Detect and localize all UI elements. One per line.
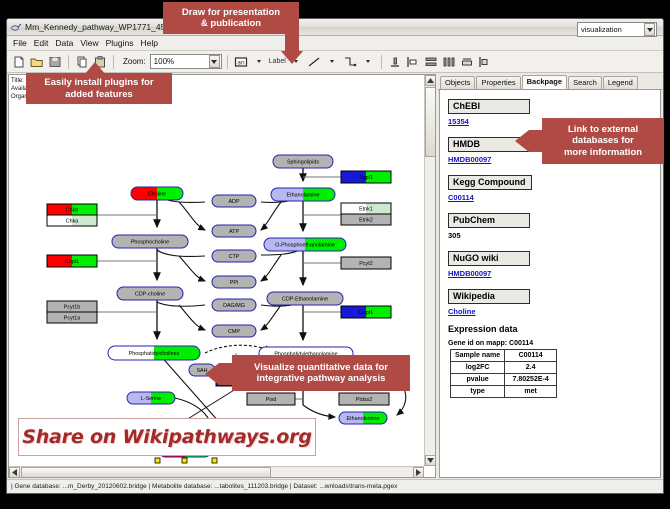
menu-edit[interactable]: Edit [32,38,54,48]
metabolite-node[interactable]: CTP [212,250,256,262]
expr-key-sample-name: Sample name [451,350,505,362]
gene-node[interactable]: Chka [47,215,97,226]
metabolite-node[interactable]: Choline [131,187,183,200]
side-panel-tabs[interactable]: Objects Properties Backpage Search Legen… [438,74,662,90]
metabolite-label: Ethanolamine [287,192,320,198]
gene-label: Ptdss2 [356,397,372,403]
datanode-dropdown-icon[interactable] [251,54,267,70]
screenshot-root: Mm_Kennedy_pathway_WP1771_45176.gpml Fil… [0,0,670,509]
tab-search[interactable]: Search [568,76,602,89]
distribute-icon[interactable] [441,54,457,70]
table-row: type met [451,386,557,398]
metabolite-label: ATP [229,229,239,235]
horizontal-scroll-thumb[interactable] [21,467,271,478]
datanode-icon[interactable]: an [233,54,249,70]
expr-val-pvalue: 7.80252E-4 [505,374,557,386]
metabolite-node[interactable]: PPi [212,276,256,288]
metabolite-node[interactable]: ADP [212,195,256,207]
gene-node[interactable]: Pisd [247,393,295,405]
scroll-left-icon[interactable] [9,467,20,478]
visualization-value: visualization [581,25,622,34]
metabolite-label: CMP [228,329,240,335]
tab-backpage[interactable]: Backpage [522,75,567,89]
selection-handle[interactable] [182,458,187,463]
expr-key-type: type [451,386,505,398]
tab-properties[interactable]: Properties [476,76,520,89]
gene-label: Chka [66,218,79,224]
callout-link-line1: Link to external [564,124,642,136]
backpage-header-pubchem: PubChem [448,213,530,228]
metabolite-label: CDP-Ethanolamine [282,296,328,302]
app-icon [11,22,22,33]
metabolite-node[interactable]: Sphingolipids [273,155,333,168]
kennedy-pathway-diagram[interactable]: CholinePhosphocholineCDP-cholinePhosphat… [9,75,425,467]
metabolite-node[interactable]: ATP [212,225,256,237]
toolbar-separator-4 [381,55,382,69]
callout-install-plugins: Easily install plugins for added feature… [26,73,172,104]
common-size-icon[interactable] [459,54,475,70]
expr-val-log2fc: 2.4 [505,362,557,374]
metabolite-label: DAG/MG [223,303,245,309]
gene-node[interactable]: Ptdss2 [339,393,389,405]
zoom-combo[interactable]: 100% [150,54,222,69]
new-file-icon[interactable] [11,54,27,70]
metabolite-node[interactable]: DAG/MG [212,299,256,311]
gene-node[interactable]: Cept1 [341,306,391,318]
metabolite-label: Phosphatidylcholines [129,351,180,357]
expression-data-table: Sample name C00114 log2FC 2.4 pvalue 7.8… [450,349,557,398]
metabolite-label: Phosphocholine [131,239,169,245]
expression-data-title: Expression data [448,324,654,334]
backpage-header-chebi: ChEBI [448,99,530,114]
callout-visualize-line1: Visualize quantitative data for [254,362,388,374]
open-folder-icon[interactable] [29,54,45,70]
zoom-value: 100% [154,57,174,66]
metabolite-node[interactable]: Phosphatidylcholines [108,346,200,360]
gene-label: Cept1 [359,310,373,316]
toolbar-separator-2 [113,55,114,69]
gene-node[interactable]: Pcyt1b [47,301,97,312]
title-bar: Mm_Kennedy_pathway_WP1771_45176.gpml [7,19,663,36]
callout-visualize-line2: integrative pathway analysis [254,373,388,385]
visualization-chevron-down-icon[interactable] [644,23,655,36]
align-left-icon[interactable] [405,54,421,70]
callout-visualize-data: Visualize quantitative data for integrat… [232,355,410,391]
gene-node[interactable]: Chkb [47,204,97,215]
callout-visualize-stem [219,363,233,385]
expr-val-sample-name: C00114 [505,350,557,362]
callout-draw-line1: Draw for presentation [182,7,280,19]
canvas-horizontal-scrollbar[interactable] [9,466,424,477]
selection-handle[interactable] [212,458,217,463]
gene-label: Pisd [266,397,277,403]
toolbar-separator-1 [68,55,69,69]
gene-label: Etnk1 [359,206,373,212]
callout-draw-line2: & publication [182,18,280,30]
menu-view[interactable]: View [78,38,103,48]
metabolite-label: Sphingolipids [287,159,319,165]
zoom-label: Zoom: [123,57,146,66]
backpage-link-wikipedia[interactable]: Choline [448,307,654,316]
metabolite-label: Choline [148,191,166,197]
gene-node[interactable]: Chpt1 [47,255,97,267]
callout-plugins-line2: added features [44,89,153,101]
expression-gene-id: Gene id on mapp: C00114 [448,340,654,347]
table-row: log2FC 2.4 [451,362,557,374]
bring-to-front-icon[interactable] [477,54,493,70]
metabolite-node[interactable]: CDP-Ethanolamine [267,292,343,305]
expr-key-pvalue: pvalue [451,374,505,386]
connector-dropdown-icon[interactable] [360,54,376,70]
gene-label: Chkb [66,207,79,213]
status-bar: | Gene database: ...m_Derby_20120602.bri… [7,479,663,493]
canvas-vertical-scrollbar[interactable] [424,75,435,466]
metabolite-node[interactable]: Phosphocholine [112,235,188,248]
selection-handle[interactable] [155,458,160,463]
metabolite-node[interactable]: CDP-choline [117,287,183,300]
stack-icon[interactable] [423,54,439,70]
gene-label: Etnk2 [359,217,373,223]
backpage-link-nugo-wiki[interactable]: HMDB00097 [448,269,654,278]
gene-label: Chpt1 [65,259,79,265]
gene-label: Sgpl1 [359,175,373,181]
gene-node[interactable]: Etnk1 [341,203,391,214]
callout-link-arrowhead-icon [515,130,529,152]
toolbar-separator-3 [227,55,228,69]
gene-label: Pcyt2 [359,261,372,267]
scroll-down-icon[interactable] [425,455,436,466]
menu-bar[interactable]: File Edit Data View Plugins Help [7,36,663,51]
metabolite-label: ADP [228,199,239,205]
scroll-right-icon[interactable] [413,467,424,478]
metabolite-node[interactable]: Ethanolamine [271,188,335,201]
metabolite-label: Ethanolamine [347,416,380,422]
table-row: pvalue 7.80252E-4 [451,374,557,386]
svg-text:an: an [237,59,245,66]
line-icon[interactable] [306,54,322,70]
visualization-combo[interactable]: visualization [577,22,657,37]
menu-file[interactable]: File [11,38,32,48]
callout-link-line3: more information [564,147,642,159]
menu-data[interactable]: Data [53,38,78,48]
align-top-icon[interactable] [387,54,403,70]
metabolite-node[interactable]: L-Serine [127,392,175,404]
backpage-header-kegg-compound: Kegg Compound [448,175,532,190]
gene-label: Pcyt1a [64,315,80,321]
tab-objects[interactable]: Objects [440,76,475,89]
backpage-header-wikipedia: Wikipedia [448,289,530,304]
callout-link-stem [529,130,543,152]
gene-node[interactable]: Sgpl1 [341,171,391,183]
metabolite-label: CDP-choline [135,291,165,297]
gene-node[interactable]: Etnk2 [341,214,391,225]
metabolite-node[interactable]: CMP [212,325,256,337]
callout-plugins-line1: Easily install plugins for [44,77,153,89]
callout-visualize-arrowhead-icon [205,363,219,385]
metabolite-label: PPi [230,280,238,286]
metabolite-label: CTP [229,254,240,260]
line-dropdown-icon[interactable] [324,54,340,70]
gene-node[interactable]: Pcyt1a [47,312,97,323]
metabolite-label: O-Phosphoethanolamine [275,242,335,248]
table-row: Sample name C00114 [451,350,557,362]
connector-icon[interactable] [342,54,358,70]
callout-draw-arrowhead-icon [281,51,303,64]
tab-legend[interactable]: Legend [603,76,638,89]
callout-draw-for-publication: Draw for presentation & publication [163,2,299,34]
status-bar-text: | Gene database: ...m_Derby_20120602.bri… [11,483,397,490]
share-banner: Share on Wikipathways.org [18,418,316,456]
menu-help[interactable]: Help [139,38,163,48]
metabolite-node[interactable]: O-Phosphoethanolamine [264,238,346,251]
backpage-value-pubchem: 305 [448,231,654,240]
save-disk-icon[interactable] [47,54,63,70]
gene-label: Pcyt1b [64,304,80,310]
backpage-header-nugo-wiki: NuGO wiki [448,251,530,266]
expr-key-log2fc: log2FC [451,362,505,374]
backpage-link-kegg-compound[interactable]: C00114 [448,193,654,202]
callout-link-line2: databases for [564,135,642,147]
vertical-scroll-thumb[interactable] [425,87,436,157]
menu-plugins[interactable]: Plugins [104,38,139,48]
expr-val-type: met [505,386,557,398]
callout-draw-stem [285,34,299,52]
scroll-up-icon[interactable] [425,75,436,86]
chevron-down-icon[interactable] [209,55,220,68]
metabolite-node[interactable]: Ethanolamine [339,412,387,424]
callout-external-links: Link to external databases for more info… [542,118,664,164]
share-banner-text: Share on Wikipathways.org [22,426,311,448]
gene-node[interactable]: Pcyt2 [341,257,391,269]
metabolite-label: L-Serine [141,396,161,402]
